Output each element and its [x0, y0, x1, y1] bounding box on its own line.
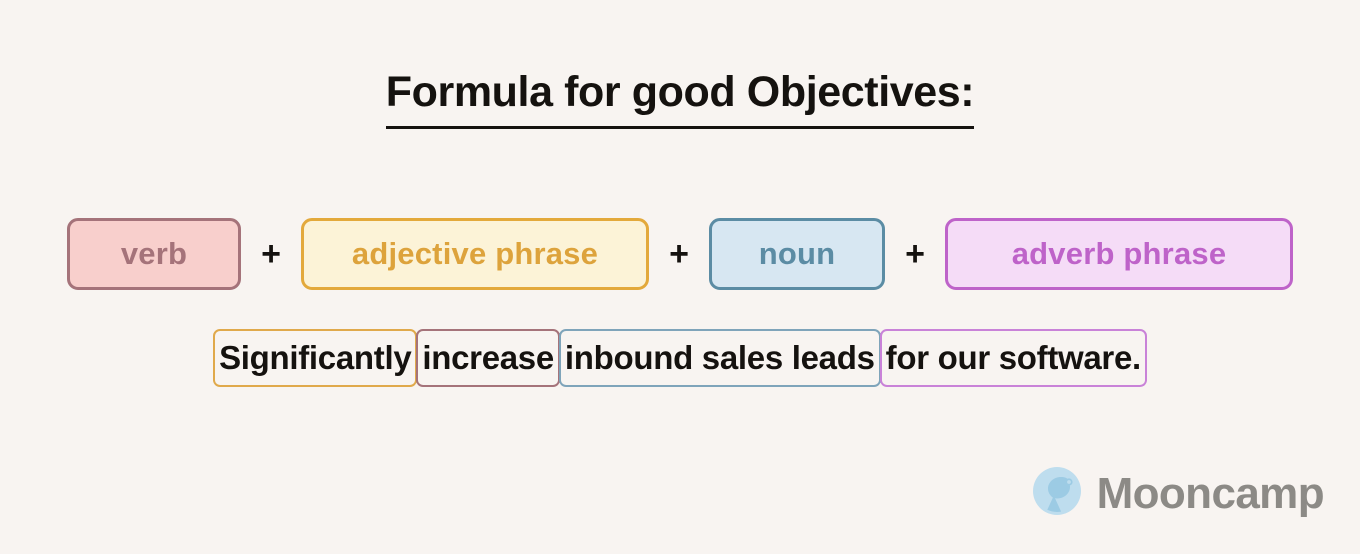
plus-operator-2: +	[649, 237, 709, 271]
plus-operator-3: +	[885, 237, 945, 271]
example-segment-verb-label: increase	[422, 339, 554, 377]
formula-part-adverb-phrase-label: adverb phrase	[1012, 236, 1227, 272]
mooncamp-wordmark: Mooncamp	[1097, 472, 1324, 516]
example-segment-noun-label: inbound sales leads	[565, 339, 875, 377]
formula-part-noun: noun	[709, 218, 885, 290]
formula-part-verb-label: verb	[121, 236, 187, 272]
example-segment-adverb-phrase-label: for our software.	[886, 339, 1141, 377]
formula-part-verb: verb	[67, 218, 241, 290]
example-sentence-row: Significantly increase inbound sales lea…	[0, 329, 1360, 387]
formula-part-adjective-phrase: adjective phrase	[301, 218, 649, 290]
plus-operator-1: +	[241, 237, 301, 271]
mooncamp-moon-icon	[1031, 465, 1083, 522]
formula-row: verb + adjective phrase + noun + adverb …	[0, 218, 1360, 290]
formula-part-noun-label: noun	[759, 236, 836, 272]
example-segment-verb: increase	[416, 329, 560, 387]
example-segment-adverb-leading: Significantly	[213, 329, 417, 387]
formula-part-adjective-phrase-label: adjective phrase	[352, 236, 598, 272]
mooncamp-logo: Mooncamp	[1031, 465, 1324, 522]
title-block: Formula for good Objectives:	[0, 66, 1360, 129]
formula-part-adverb-phrase: adverb phrase	[945, 218, 1293, 290]
example-segment-adverb-leading-label: Significantly	[219, 339, 411, 377]
example-segment-noun: inbound sales leads	[559, 329, 881, 387]
example-segment-adverb-phrase: for our software.	[880, 329, 1147, 387]
page-title: Formula for good Objectives:	[386, 66, 974, 129]
